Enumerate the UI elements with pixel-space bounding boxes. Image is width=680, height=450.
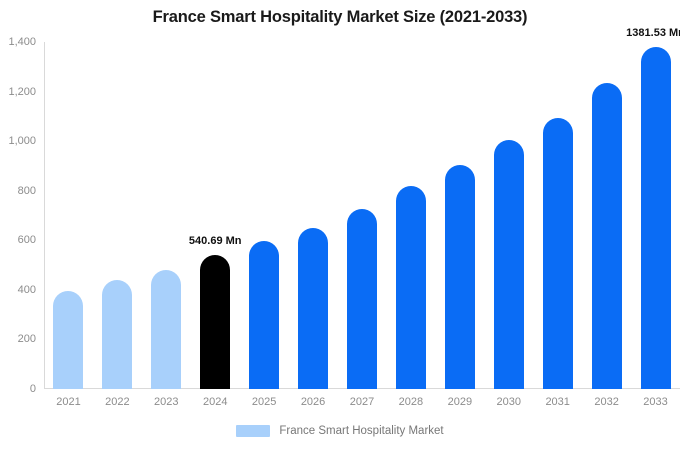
bar-2026[interactable] — [298, 228, 328, 389]
bar-rect[interactable] — [347, 209, 377, 389]
y-axis-tick-label: 1,200 — [0, 87, 36, 98]
y-axis-tick-label: 800 — [0, 186, 36, 197]
bar-rect[interactable] — [102, 280, 132, 389]
bar-rect[interactable] — [249, 241, 279, 389]
bar-2025[interactable] — [249, 241, 279, 389]
y-axis-tick-label: 600 — [0, 235, 36, 246]
bar-rect[interactable] — [641, 47, 671, 389]
bar-2022[interactable] — [102, 280, 132, 389]
plot-area: 540.69 Mn1381.53 Mn — [44, 42, 680, 389]
bar-rect[interactable] — [592, 83, 622, 389]
bar-rect[interactable] — [200, 255, 230, 389]
bar-rect[interactable] — [53, 291, 83, 389]
y-axis-tick-label: 400 — [0, 285, 36, 296]
bar-rect[interactable] — [543, 118, 573, 389]
legend-swatch — [236, 425, 270, 437]
bar-2032[interactable] — [592, 83, 622, 389]
bar-2027[interactable] — [347, 209, 377, 389]
bar-2031[interactable] — [543, 118, 573, 389]
bar-2030[interactable] — [494, 140, 524, 389]
y-axis-tick-label: 1,400 — [0, 37, 36, 48]
bar-2029[interactable] — [445, 165, 475, 389]
x-axis-tick-label: 2033 — [626, 396, 680, 408]
chart-legend: France Smart Hospitality Market — [0, 425, 680, 437]
bar-2028[interactable] — [396, 186, 426, 389]
bar-rect[interactable] — [298, 228, 328, 389]
bar-value-label-2033: 1381.53 Mn — [626, 28, 680, 39]
y-axis-tick-label: 0 — [0, 384, 36, 395]
bar-2024[interactable] — [200, 255, 230, 389]
x-axis-labels: 2021202220232024202520262027202820292030… — [44, 396, 680, 412]
chart-title: France Smart Hospitality Market Size (20… — [0, 8, 680, 27]
y-axis-tick-label: 200 — [0, 334, 36, 345]
bar-rect[interactable] — [151, 270, 181, 389]
y-axis-tick-label: 1,000 — [0, 136, 36, 147]
bar-value-label-2024: 540.69 Mn — [189, 236, 242, 247]
chart-container: France Smart Hospitality Market Size (20… — [0, 0, 680, 450]
bar-series: 540.69 Mn1381.53 Mn — [44, 42, 680, 389]
bar-rect[interactable] — [445, 165, 475, 389]
legend-label: France Smart Hospitality Market — [279, 425, 443, 437]
bar-rect[interactable] — [396, 186, 426, 389]
bar-2021[interactable] — [53, 291, 83, 389]
bar-rect[interactable] — [494, 140, 524, 389]
bar-2033[interactable] — [641, 47, 671, 389]
bar-2023[interactable] — [151, 270, 181, 389]
